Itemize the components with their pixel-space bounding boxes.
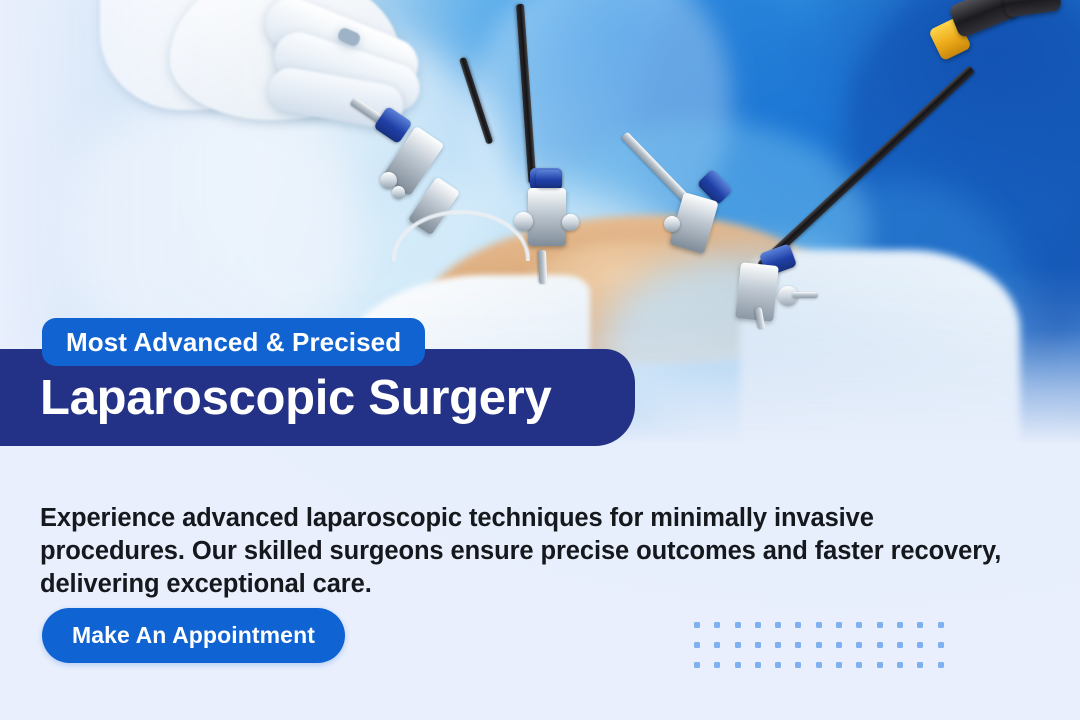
hero-banner: Most Advanced & Precised Laparoscopic Su… [0, 0, 1080, 720]
decorative-dot-grid [694, 622, 958, 682]
page-title-text: Laparoscopic Surgery [40, 370, 551, 426]
instrument-blue-collar [536, 170, 562, 188]
trocar-valve [664, 216, 680, 232]
trocar-valve [514, 212, 533, 231]
trocar-body [528, 188, 566, 246]
make-an-appointment-label: Make An Appointment [72, 622, 315, 649]
trocar-valve [562, 214, 579, 231]
make-an-appointment-button[interactable]: Make An Appointment [42, 608, 345, 663]
body-description: Experience advanced laparoscopic techniq… [40, 502, 1010, 601]
trocar-valve [392, 186, 405, 199]
instrument-stopcock [792, 292, 818, 298]
surgical-sheet-right [740, 250, 1020, 450]
instrument-cannula-tip [538, 250, 547, 284]
page-title: Laparoscopic Surgery [40, 349, 640, 446]
